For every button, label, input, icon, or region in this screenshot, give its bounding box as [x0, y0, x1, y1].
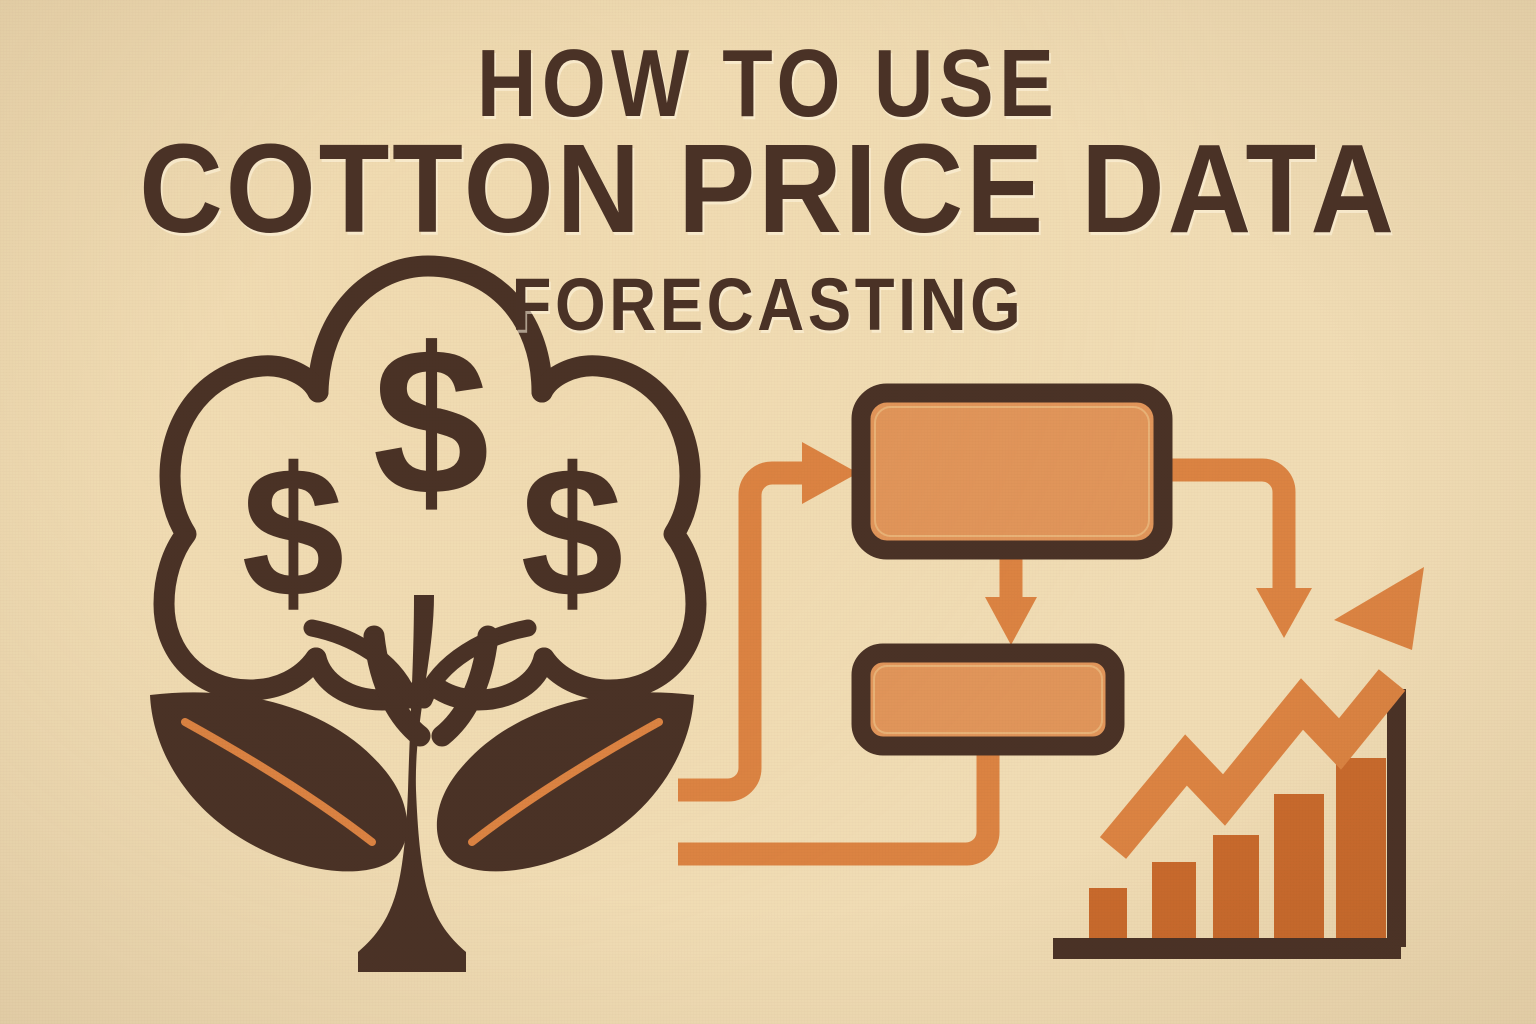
bar-chart-bar-4 [1274, 794, 1324, 944]
bar-chart-bar-3 [1213, 835, 1259, 944]
bar-chart-bar-2 [1152, 862, 1196, 944]
flowchart-box-1[interactable] [861, 393, 1163, 550]
connector-box1-to-box2-arrowhead [985, 597, 1037, 645]
bar-chart-y-axis [1387, 689, 1406, 947]
dollar-sign-group: $ $ $ [242, 304, 624, 636]
bar-chart-x-axis [1053, 938, 1401, 959]
title-line-2: COTTON PRICE DATA [61, 126, 1474, 252]
bar-chart-bar-1 [1089, 888, 1127, 944]
bar-chart [1053, 567, 1424, 959]
plant-leaf-right [437, 692, 694, 871]
poster-canvas: $ $ $ [0, 0, 1536, 1024]
bar-chart-bar-5 [1336, 758, 1386, 944]
dollar-sign-icon-left: $ [242, 430, 345, 636]
title-line-3: FORECASTING [92, 268, 1444, 342]
cotton-plant-with-dollar-signs: $ $ $ [150, 266, 696, 972]
dollar-sign-icon-right: $ [521, 430, 624, 636]
connector-in-bottom-left-arrowhead [802, 442, 858, 504]
plant-leaf-left [150, 692, 407, 871]
connector-box1-to-chart [1163, 470, 1284, 590]
upward-trend-arrow-head [1334, 567, 1424, 650]
connector-box1-to-chart-arrowhead [1256, 588, 1312, 638]
